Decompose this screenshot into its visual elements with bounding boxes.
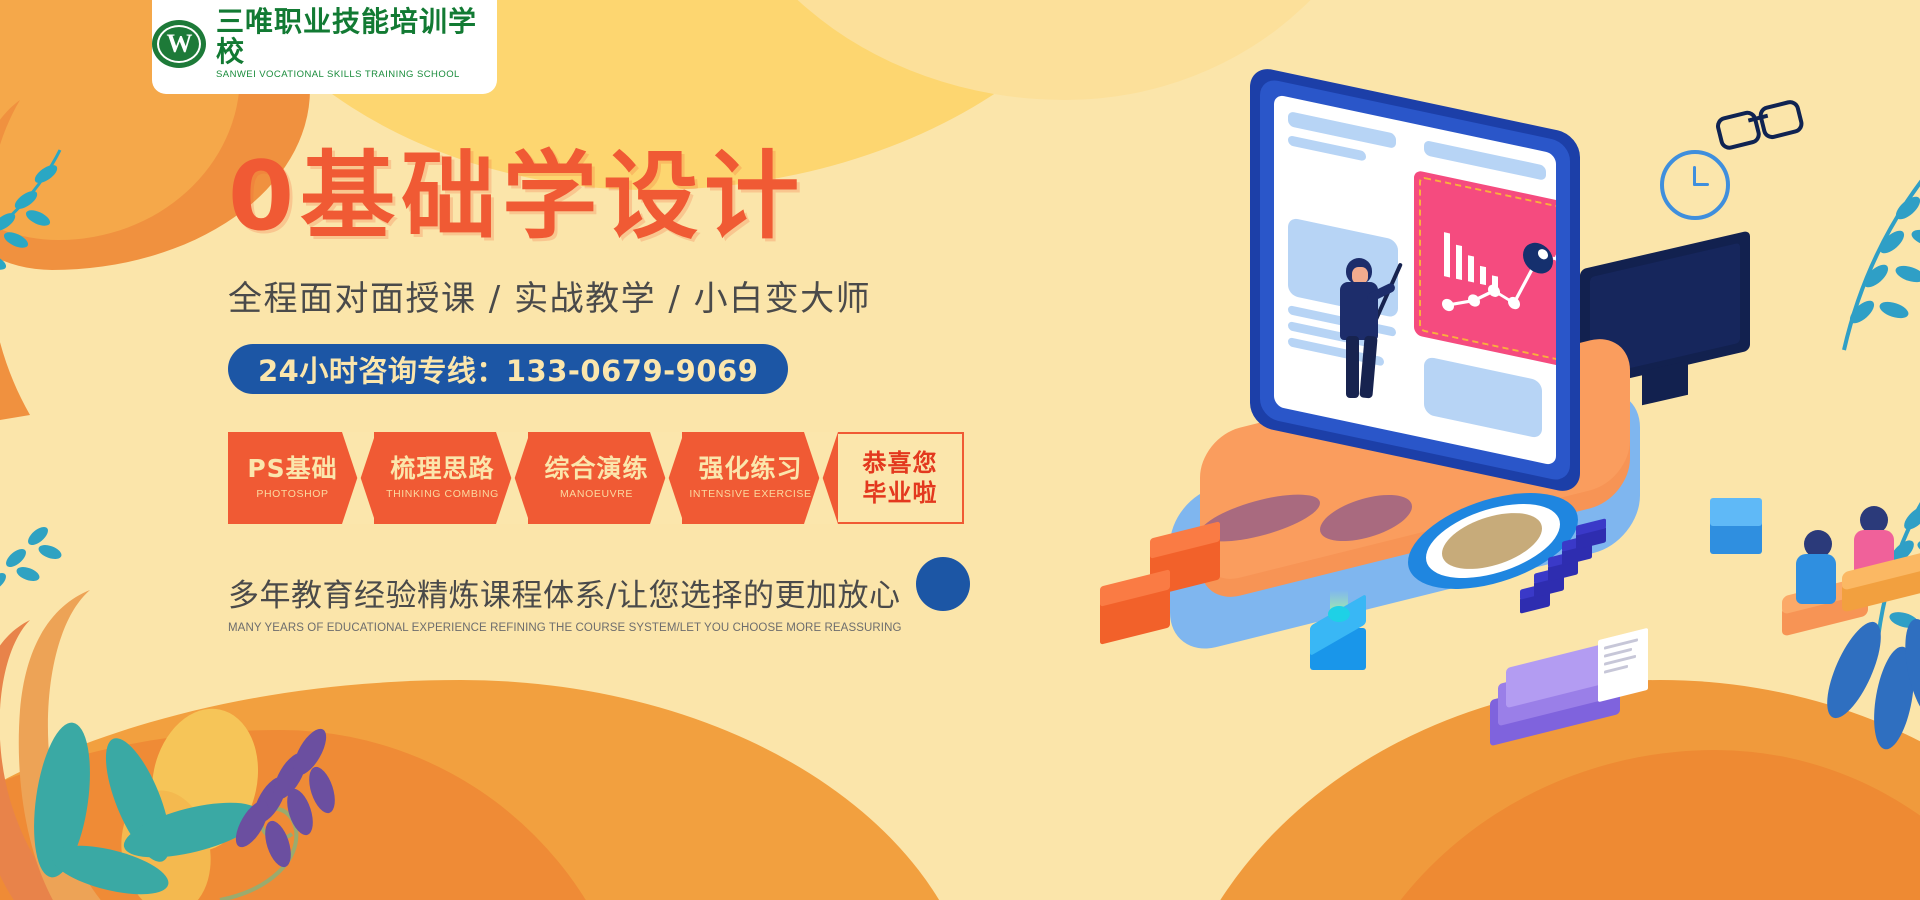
step-label-en: PHOTOSHOP — [256, 488, 328, 500]
document-stack — [1480, 620, 1670, 760]
hotline-label: 24小时咨询专线：133-0679-9069 — [258, 348, 758, 390]
blue-cube-lamp — [1310, 600, 1370, 672]
seated-people — [1760, 500, 1920, 680]
step-label-en: THINKING COMBING — [386, 488, 499, 500]
step-label-en: INTENSIVE EXERCISE — [689, 488, 811, 500]
page-title: 0基础学设计 — [228, 150, 988, 245]
paper-sheet — [1598, 628, 1648, 702]
chevron-right-icon — [496, 432, 530, 524]
step-label-cn: 综合演练 — [544, 456, 648, 481]
subtitle: 全程面对面授课 / 实战教学 / 小白变大师 — [228, 271, 988, 320]
course-steps: PS基础 PHOTOSHOP 梳理思路 THINKING COMBING 综合演… — [228, 432, 988, 524]
step-item[interactable]: 综合演练 MANOEUVRE — [528, 432, 683, 524]
tagline-cn: 多年教育经验精炼课程体系/让您选择的更加放心 — [228, 570, 988, 615]
footer-tagline: 多年教育经验精炼课程体系/让您选择的更加放心 MANY YEARS OF EDU… — [228, 570, 988, 634]
school-logo-icon: W — [152, 20, 206, 68]
graduation-badge[interactable]: 恭喜您 毕业啦 — [836, 432, 964, 524]
step-label-cn: 强化练习 — [698, 456, 802, 481]
hotline-button[interactable]: 24小时咨询专线：133-0679-9069 — [228, 344, 788, 394]
tagline-en: MANY YEARS OF EDUCATIONAL EXPERIENCE REF… — [228, 622, 988, 634]
step-label-en: MANOEUVRE — [560, 488, 633, 500]
graduation-line-2: 毕业啦 — [863, 478, 938, 508]
step-label-cn: PS基础 — [247, 456, 337, 481]
chevron-right-icon — [650, 432, 684, 524]
brand-name-cn: 三唯职业技能培训学校 — [216, 7, 497, 66]
orange-blocks — [1090, 530, 1270, 670]
brand-logo-plate[interactable]: W 三唯职业技能培训学校 SANWEI VOCATIONAL SKILLS TR… — [152, 0, 497, 94]
chevron-right-icon — [804, 432, 838, 524]
presenter-figure — [1332, 258, 1390, 403]
chevron-right-icon — [342, 432, 376, 524]
step-label-cn: 梳理思路 — [390, 456, 494, 481]
graduation-line-1: 恭喜您 — [863, 448, 938, 478]
design-chart-card — [1414, 170, 1556, 369]
brand-name-en: SANWEI VOCATIONAL SKILLS TRAINING SCHOOL — [216, 69, 497, 80]
step-item[interactable]: 强化练习 INTENSIVE EXERCISE — [682, 432, 837, 524]
step-item[interactable]: PS基础 PHOTOSHOP — [228, 432, 375, 524]
blue-cube-small — [1710, 490, 1766, 556]
monitor-illustration — [1250, 65, 1580, 495]
step-item[interactable]: 梳理思路 THINKING COMBING — [374, 432, 529, 524]
promo-content: 0基础学设计 全程面对面授课 / 实战教学 / 小白变大师 24小时咨询专线：1… — [228, 150, 988, 634]
promo-banner: W 三唯职业技能培训学校 SANWEI VOCATIONAL SKILLS TR… — [0, 0, 1920, 900]
monitor-screen — [1274, 94, 1556, 466]
hero-illustration — [1150, 80, 1920, 840]
logo-letter: W — [152, 20, 206, 68]
analytics-chart — [1414, 170, 1556, 369]
